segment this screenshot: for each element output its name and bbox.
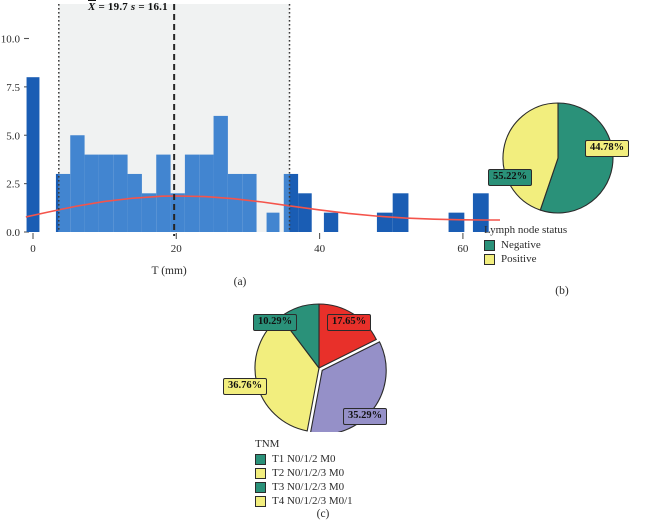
legend-c-item-3: T4 N0/1/2/3 M0/1 <box>255 495 353 508</box>
histogram-bar <box>393 193 409 232</box>
stats-annotation: X = 19.7 s = 16.1 <box>88 1 168 13</box>
pie-b-label-negative: 55.22% <box>488 169 532 186</box>
histogram-bar <box>324 213 338 232</box>
panel-b-pie: 55.22% 44.78% Lymph node status Negative… <box>480 96 646 296</box>
histogram-bar <box>171 193 185 232</box>
histogram-bar <box>70 135 84 232</box>
legend-c-title: TNM <box>255 438 353 450</box>
histogram-bar <box>449 213 465 232</box>
histogram-bar <box>284 174 290 232</box>
legend-c-label-0: T1 N0/1/2 M0 <box>272 453 336 466</box>
panel-c-caption: (c) <box>288 508 358 520</box>
legend-b: Lymph node status Negative Positive <box>484 224 567 267</box>
legend-c-label-3: T4 N0/1/2/3 M0/1 <box>272 495 353 508</box>
svg-text:20: 20 <box>171 243 183 255</box>
svg-text:5.0: 5.0 <box>6 130 20 142</box>
legend-c-item-2: T3 N0/1/2/3 M0 <box>255 481 353 494</box>
pie-c-label-t3: 36.76% <box>223 378 267 395</box>
panel-a-caption: (a) <box>205 276 275 288</box>
histogram-bar <box>228 174 242 232</box>
histogram-bar <box>185 155 199 232</box>
svg-text:7.5: 7.5 <box>6 82 20 94</box>
figure-root: 0.02.55.07.510.00204060T (mm) X = 19.7 s… <box>0 0 646 527</box>
legend-b-item-positive: Positive <box>484 253 567 266</box>
pie-b-label-positive: 44.78% <box>585 140 629 157</box>
pie-b-svg <box>480 96 646 220</box>
histogram-bar <box>290 174 299 232</box>
pie-b-wrap: 55.22% 44.78% <box>480 96 646 220</box>
legend-b-label-positive: Positive <box>501 253 536 266</box>
histogram-bar <box>199 155 213 232</box>
legend-b-item-negative: Negative <box>484 239 567 252</box>
histogram-bar <box>142 193 156 232</box>
pie-b-slices <box>503 103 613 213</box>
histogram-bar <box>27 77 40 232</box>
histogram-bar <box>267 213 280 232</box>
legend-b-title: Lymph node status <box>484 224 567 236</box>
histogram-bar <box>242 174 256 232</box>
legend-swatch-t2 <box>255 468 266 479</box>
legend-swatch-positive <box>484 254 495 265</box>
sd-value: = 16.1 <box>138 1 167 13</box>
histogram-bar <box>56 174 59 232</box>
panel-b-caption: (b) <box>527 285 597 297</box>
pie-c-label-t4: 10.29% <box>253 314 297 331</box>
histogram-bar <box>59 174 70 232</box>
histogram-bar <box>156 155 170 232</box>
legend-b-label-negative: Negative <box>501 239 541 252</box>
pie-c-wrap: 17.65% 35.29% 36.76% 10.29% <box>215 292 430 432</box>
histogram-bar <box>298 193 312 232</box>
legend-swatch-negative <box>484 240 495 251</box>
histogram-bar <box>99 155 113 232</box>
legend-c-label-2: T3 N0/1/2/3 M0 <box>272 481 344 494</box>
svg-text:0.0: 0.0 <box>6 227 20 239</box>
pie-c-label-t1: 17.65% <box>327 314 371 331</box>
x-axis-title: T (mm) <box>152 265 187 277</box>
legend-c: TNM T1 N0/1/2 M0 T2 N0/1/2/3 M0 T3 N0/1/… <box>255 438 353 510</box>
pie-c-label-t2: 35.29% <box>343 408 387 425</box>
svg-text:2.5: 2.5 <box>6 179 20 191</box>
legend-c-item-0: T1 N0/1/2 M0 <box>255 453 353 466</box>
legend-swatch-t4 <box>255 496 266 507</box>
legend-c-item-1: T2 N0/1/2/3 M0 <box>255 467 353 480</box>
svg-text:40: 40 <box>314 243 326 255</box>
pie-c-svg <box>215 292 430 432</box>
svg-text:10.0: 10.0 <box>1 34 21 46</box>
histogram-bar <box>113 155 127 232</box>
svg-text:0: 0 <box>30 243 36 255</box>
legend-c-label-1: T2 N0/1/2/3 M0 <box>272 467 344 480</box>
legend-swatch-t1 <box>255 454 266 465</box>
histogram-bar <box>85 155 99 232</box>
panel-a-histogram: 0.02.55.07.510.00204060T (mm) X = 19.7 s… <box>0 0 500 295</box>
histogram-svg: 0.02.55.07.510.00204060T (mm) <box>0 0 500 295</box>
panel-c-pie: 17.65% 35.29% 36.76% 10.29% TNM T1 N0/1/… <box>215 292 430 524</box>
histogram-bar <box>214 116 228 232</box>
sd-symbol: s <box>131 1 135 13</box>
svg-text:60: 60 <box>457 243 469 255</box>
legend-swatch-t3 <box>255 482 266 493</box>
histogram-bar <box>128 174 142 232</box>
histogram-plot-area: 0.02.55.07.510.00204060T (mm) <box>1 4 500 277</box>
mean-value: = 19.7 <box>99 1 128 13</box>
